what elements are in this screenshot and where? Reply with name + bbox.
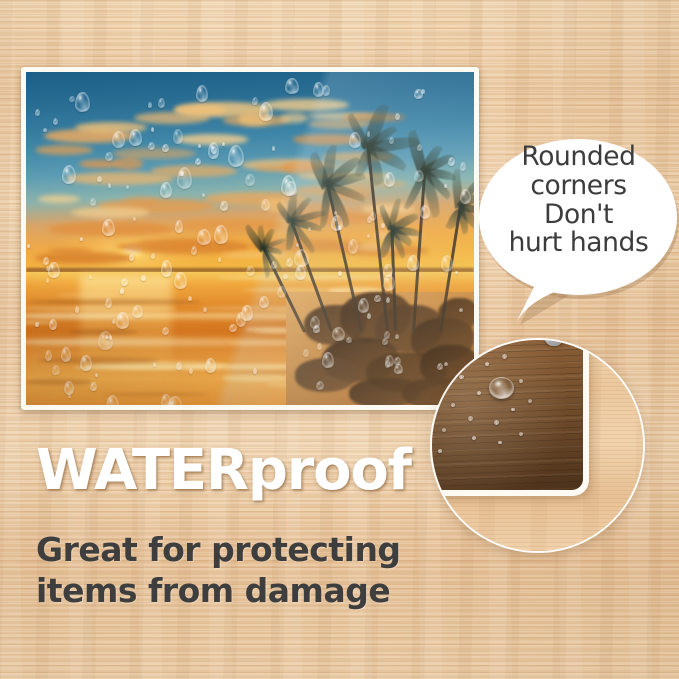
beach-sunset-photo <box>26 72 474 405</box>
speech-bubble-text: Rounded corners Don't hurt hands <box>478 143 679 258</box>
magnifier-circle <box>430 338 645 553</box>
magnified-photo-surface <box>430 338 583 490</box>
bubble-line-1: Rounded <box>478 143 679 172</box>
product-marketing-image: Rounded corners Don't hurt hands WATERpr… <box>0 0 679 679</box>
headline-water: WATER <box>36 438 248 503</box>
palm-trees <box>277 85 465 331</box>
speech-bubble: Rounded corners Don't hurt hands <box>478 125 679 340</box>
bubble-line-2: corners <box>478 172 679 201</box>
headline-proof: proof <box>248 438 411 503</box>
subheading-line-1: Great for protecting <box>36 530 436 571</box>
magnified-large-droplet <box>489 377 514 399</box>
bubble-line-4: hurt hands <box>478 229 679 258</box>
subheading-line-2: items from damage <box>36 571 436 612</box>
magnified-wet-sheen <box>430 338 583 490</box>
bubble-line-3: Don't <box>478 201 679 230</box>
magnified-placemat-corner <box>430 338 589 496</box>
subheading: Great for protecting items from damage <box>36 530 436 612</box>
product-placemat <box>21 67 479 410</box>
page-title: WATERproof <box>36 443 411 499</box>
